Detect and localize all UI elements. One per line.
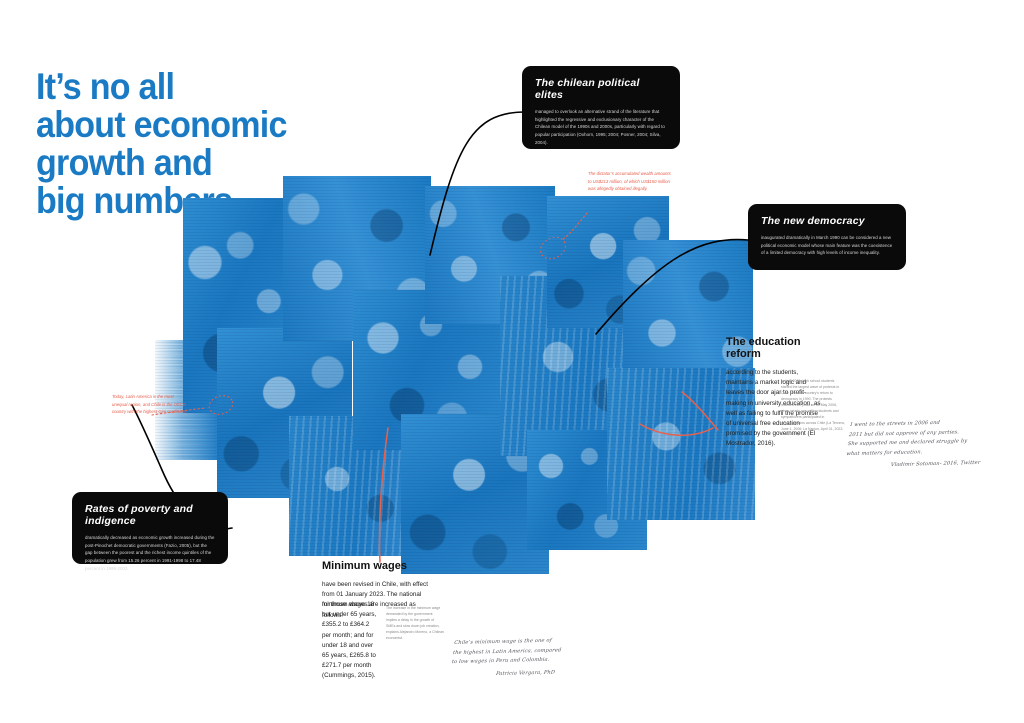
handwritten-note-protest: I went to the streets in 2006 and 2011 b…	[843, 408, 1012, 481]
callout-body: dramatically decreased as economic growt…	[85, 534, 215, 573]
education-subnote: In April 2006, high school students star…	[781, 379, 845, 438]
callout-body: inaugurated dramatically in March 1990 c…	[761, 234, 893, 257]
callout-title: The new democracy	[761, 215, 893, 227]
block-title: Minimum wages	[322, 560, 432, 572]
minimum-wages-details: for those above 18 but under 65 years, £…	[322, 600, 378, 682]
red-note-gini-coefficient: Today, Latin America is the most unequal…	[112, 393, 190, 416]
callout-rates-of-poverty-and-indigence[interactable]: Rates of poverty and indigence dramatica…	[72, 492, 228, 564]
callout-the-new-democracy[interactable]: The new democracy inaugurated dramatical…	[748, 204, 906, 270]
handwritten-note-wage: Chile’s minimum wage is the one of the h…	[448, 627, 596, 690]
callout-body: managed to overlook an alternative stran…	[535, 108, 667, 147]
block-title: The education reform	[726, 336, 822, 360]
photo-collage	[155, 168, 795, 568]
handwritten-text: Chile’s minimum wage is the one of the h…	[451, 638, 561, 665]
handwritten-signature: Patricia Vergara, PhD	[449, 667, 590, 680]
callout-title: Rates of poverty and indigence	[85, 503, 215, 527]
callout-chilean-political-elites[interactable]: The chilean political elites managed to …	[522, 66, 680, 149]
poster-canvas: It’s no all about economic growth and bi…	[0, 0, 1024, 723]
callout-title: The chilean political elites	[535, 77, 667, 101]
block-details: for those above 18 but under 65 years, £…	[322, 600, 378, 682]
handwritten-signature: Vladimir Sotoman- 2016, Twitter	[844, 458, 1005, 471]
minimum-wages-subnote: The increase in the minimum wage demande…	[386, 606, 444, 642]
red-note-dictator-wealth: The dictator’s accumulated wealth amount…	[588, 170, 674, 193]
handwritten-text: I went to the streets in 2006 and 2011 b…	[846, 420, 968, 457]
